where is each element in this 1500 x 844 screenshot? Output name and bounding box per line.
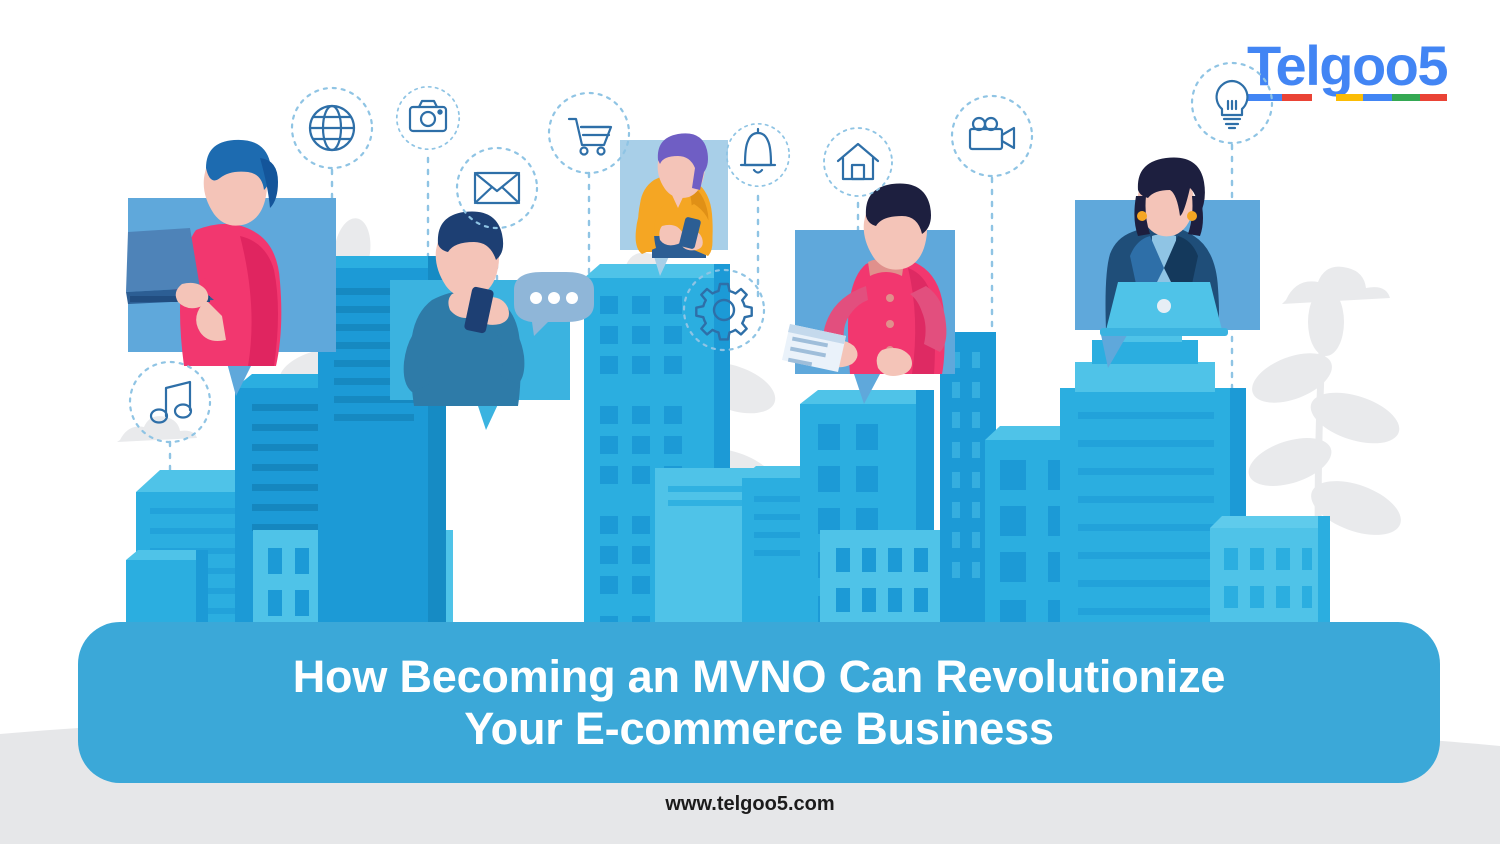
person-documents-pink — [782, 183, 955, 404]
bell-icon — [727, 124, 789, 186]
video-camera-icon — [952, 96, 1032, 176]
home-icon — [824, 128, 892, 196]
globe-icon — [292, 88, 372, 168]
title-banner: How Becoming an MVNO Can Revolutionize Y… — [78, 622, 1440, 783]
poster-canvas: Telgoo5 How Becoming an MVNO Can Revolut… — [0, 0, 1500, 844]
page-title: How Becoming an MVNO Can Revolutionize Y… — [269, 651, 1249, 755]
lightbulb-icon — [1192, 63, 1272, 143]
shopping-cart-icon — [549, 93, 629, 173]
footer-website-url[interactable]: www.telgoo5.com — [0, 793, 1500, 816]
camera-icon — [397, 87, 459, 149]
person-phone-teal — [390, 211, 594, 430]
illustration — [0, 0, 1500, 700]
